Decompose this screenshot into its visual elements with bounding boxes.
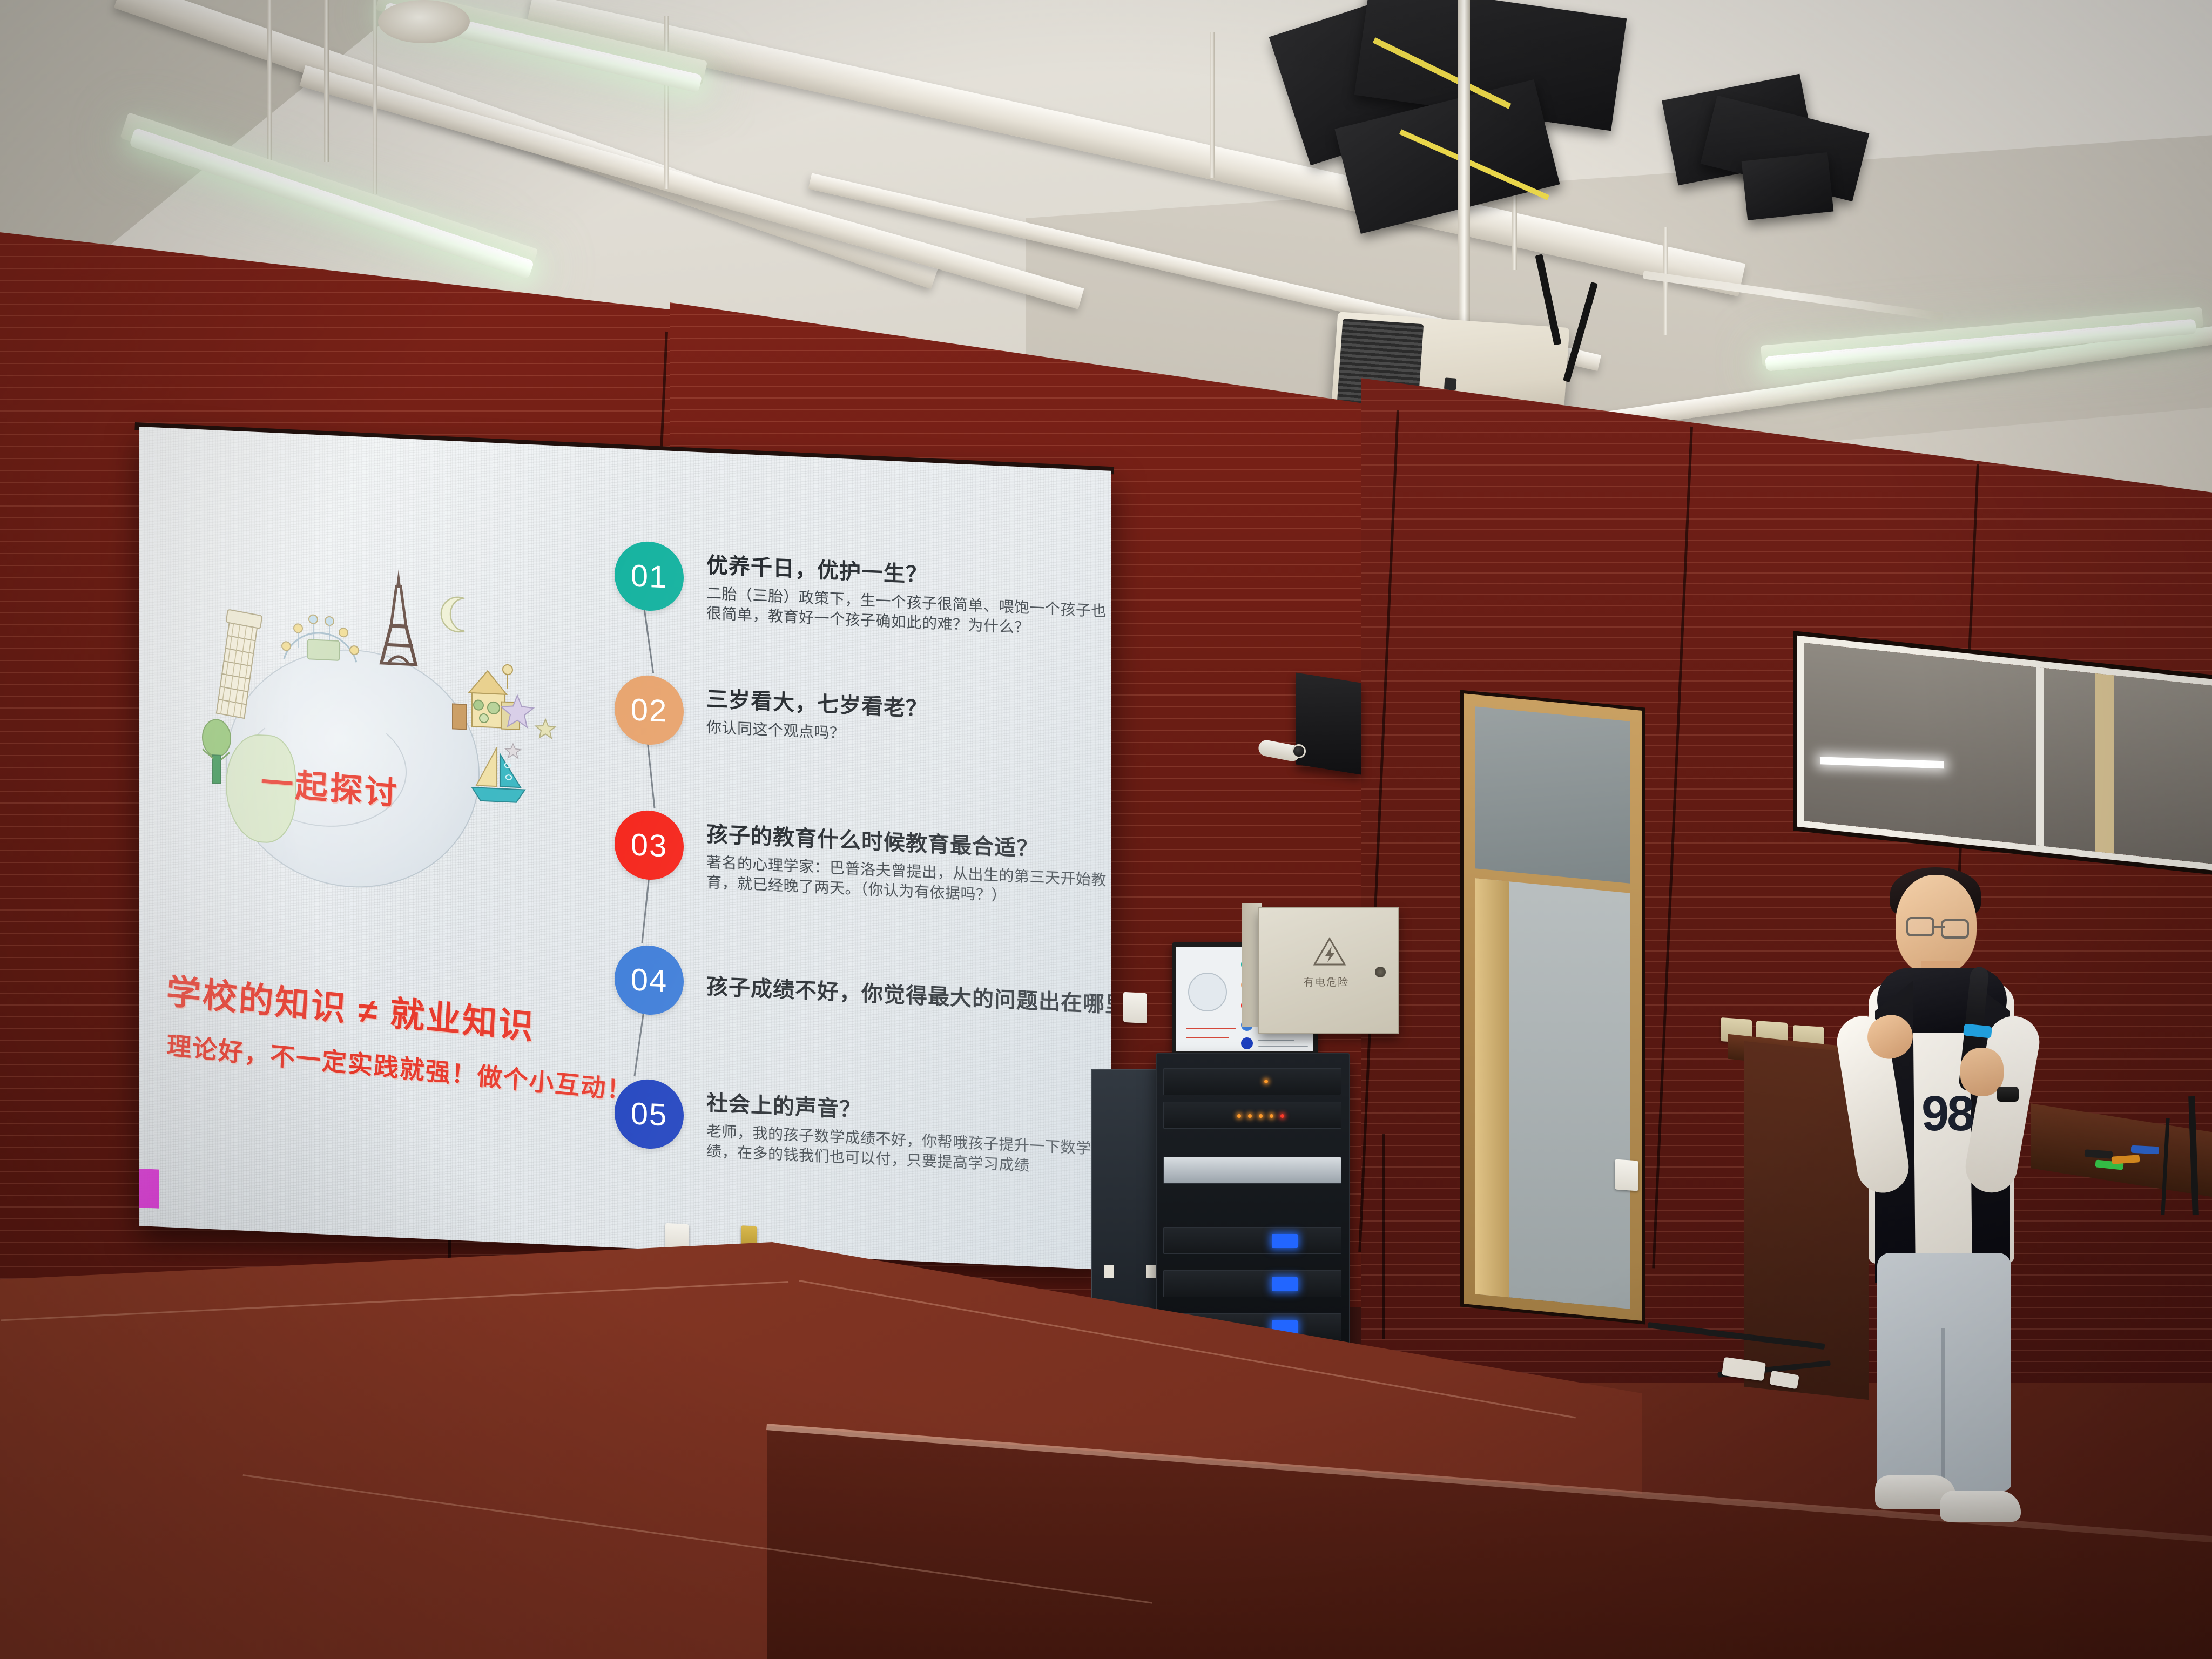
security-camera-lens: [1292, 744, 1306, 758]
rack-unit-amplifier[interactable]: [1163, 1227, 1341, 1254]
electric-hazard-icon: [1312, 936, 1347, 968]
timeline-number-badge: 03: [615, 809, 684, 881]
av-equipment-rack[interactable]: [1156, 1053, 1350, 1355]
eiffel-tower-icon: [377, 567, 420, 666]
numbered-timeline: 01 优养千日，优护一生？ 二胎（三胎）政策下，生一个孩子很简单、喂饱一个孩子也…: [615, 540, 1101, 1248]
timeline-item: 02 三岁看大，七岁看老？ 你认同这个观点吗？: [615, 674, 1101, 696]
red-emphasis-line-2: 理论好，不一定实践就强！做个小互动！: [166, 1026, 633, 1107]
rack-unit-amplifier[interactable]: [1163, 1270, 1341, 1297]
glass-door[interactable]: [1464, 693, 1642, 1321]
rack-unit-mixer[interactable]: [1163, 1068, 1341, 1095]
eyeglasses-right-lens: [1941, 919, 1969, 939]
screen-dead-pixel-artifact: [139, 1169, 159, 1209]
ceiling-dome-light: [378, 0, 470, 43]
hanger-rod: [324, 0, 329, 162]
eyeglasses-bridge: [1934, 926, 1945, 928]
presenter-shirt-number: 98: [1921, 1085, 1972, 1142]
projector-support-pole: [1458, 0, 1470, 356]
hanger-rod: [267, 0, 272, 165]
presenter-pants-seam: [1941, 1328, 1945, 1491]
timeline-number-badge: 02: [615, 674, 684, 746]
monitor-mini-badge: [1241, 1037, 1253, 1049]
hanger-rod: [373, 0, 377, 194]
door-transom-glass: [1475, 706, 1630, 884]
rack-unit-processor[interactable]: [1163, 1102, 1341, 1129]
globe-illustration: 一起探讨: [145, 551, 555, 905]
projection-screen: 一起探讨 学校的知识 ≠ 就业知识 理论好，不一定实践就强！做个小互动！ 01 …: [139, 427, 1111, 1270]
electrical-cabinet[interactable]: 有电危险: [1258, 907, 1399, 1034]
timeline-heading: 孩子成绩不好，你觉得最大的问题出在哪里？: [706, 969, 1111, 1019]
eyeglasses-left-lens: [1906, 917, 1934, 936]
wall-seam: [1382, 1134, 1385, 1339]
timeline-connector: [644, 610, 654, 673]
timeline-item: 04 孩子成绩不好，你觉得最大的问题出在哪里？: [615, 944, 1101, 966]
crescent-moon-icon: [436, 594, 475, 635]
timeline-item: 01 优养千日，优护一生？ 二胎（三胎）政策下，生一个孩子很简单、喂饱一个孩子也…: [615, 540, 1101, 562]
hanger-rod: [664, 16, 669, 189]
door-leaf[interactable]: [1475, 878, 1509, 1297]
timeline-number-badge: 05: [615, 1078, 684, 1150]
sailboat-icon: [469, 744, 528, 806]
timeline-connector: [641, 875, 650, 943]
cabinet-handle[interactable]: [1104, 1265, 1114, 1278]
timeline-number-badge: 04: [615, 944, 684, 1016]
cabinet-handle[interactable]: [1146, 1265, 1156, 1278]
electric-hazard-label: 有电危险: [1304, 974, 1349, 989]
marker-pen[interactable]: [2131, 1145, 2160, 1155]
presenter-right-shoe: [1940, 1491, 2021, 1522]
wall-speaker: [1296, 672, 1361, 774]
cabinet-lock[interactable]: [1375, 967, 1386, 977]
slide-content: 一起探讨 学校的知识 ≠ 就业知识 理论好，不一定实践就强！做个小互动！ 01 …: [139, 427, 1111, 1270]
rack-unit-player[interactable]: [1163, 1157, 1341, 1184]
photo-scene: SONY: [0, 0, 2212, 1659]
wall-socket[interactable]: [1123, 992, 1147, 1023]
window-mullion: [2036, 667, 2044, 846]
presenter: 98: [1825, 853, 2052, 1555]
monitor-mini-globe: [1188, 973, 1227, 1011]
timeline-connector: [633, 1010, 644, 1077]
projector-sensor: [1444, 377, 1456, 390]
stage-light-barndoor: [1742, 152, 1834, 220]
timeline-item: 05 社会上的声音？ 老师，我的孩子数学成绩不好，你帮哦孩子提升一下数学成绩，在…: [615, 1078, 1101, 1100]
ferris-wheel-icon: [280, 605, 361, 665]
wristwatch: [1997, 1087, 2019, 1102]
window-blind-slat: [2095, 673, 2114, 854]
window-light-reflection: [1820, 757, 1944, 768]
timeline-connector: [646, 740, 655, 808]
tree-icon: [196, 716, 239, 788]
wall-socket[interactable]: [1615, 1159, 1638, 1191]
timeline-item: 03 孩子的教育什么时候教育最合适？ 著名的心理学家：巴普洛夫曾提出，从出生的第…: [615, 809, 1101, 831]
hanger-rod: [1210, 32, 1215, 178]
timeline-number-badge: 01: [615, 540, 684, 612]
